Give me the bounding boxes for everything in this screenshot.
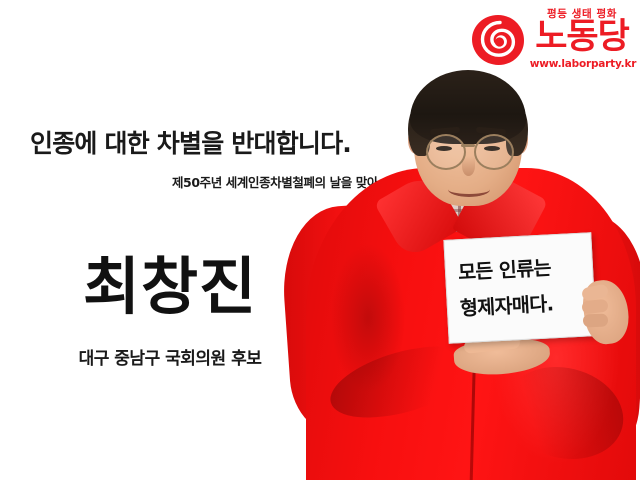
mouth — [448, 182, 490, 197]
glasses-bridge — [461, 144, 475, 147]
finger-ring — [583, 314, 608, 328]
sign-line-2: 형제자매다. — [455, 285, 587, 328]
glasses-lens-right — [474, 134, 514, 170]
glasses-lens-left — [426, 134, 466, 170]
campaign-poster: 평등 생태 평화 노동당 www.laborparty.kr 인종에 대한 차별… — [0, 0, 640, 480]
held-sign: 모든 인류는 형제자매다. — [443, 232, 596, 344]
candidate-photo: 모든 인류는 형제자매다. — [268, 0, 640, 480]
hair — [410, 70, 526, 144]
nose — [462, 156, 475, 176]
